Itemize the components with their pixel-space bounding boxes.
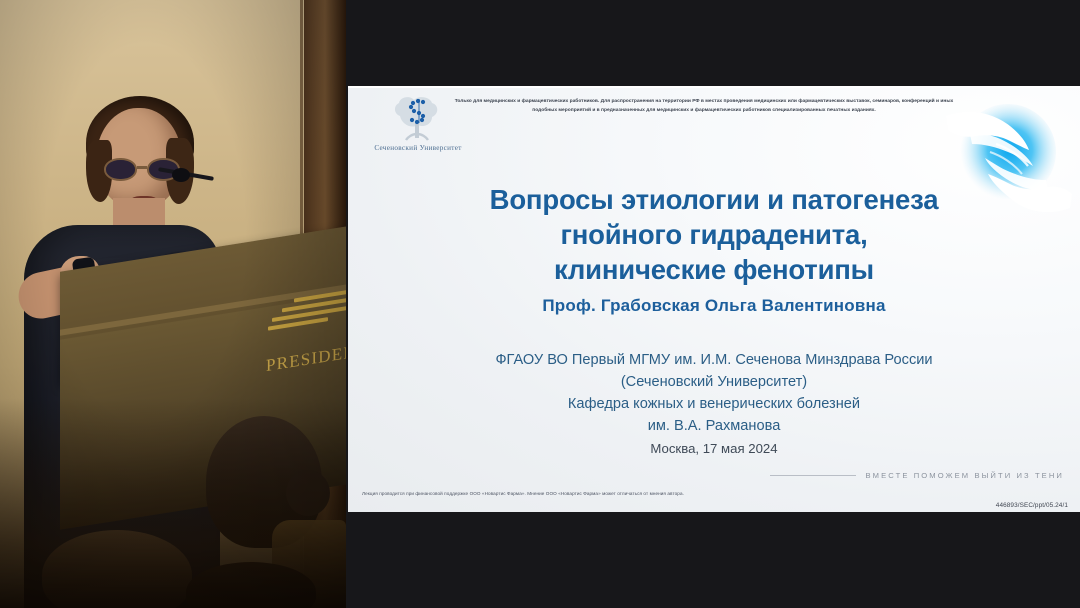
- slide-affiliation: ФГАОУ ВО Первый МГМУ им. И.М. Сеченова М…: [348, 350, 1080, 438]
- sechenov-logo-mark-icon: [388, 94, 448, 144]
- slide-title-line-2: гнойного гидраденита,: [348, 217, 1080, 252]
- campaign-tagline: ВМЕСТЕ ПОМОЖЕМ ВЫЙТИ ИЗ ТЕНИ: [770, 471, 1065, 480]
- regulatory-disclaimer: Только для медицинских и фармацевтически…: [444, 98, 964, 115]
- glasses-lens-left: [104, 158, 137, 181]
- affiliation-line-3: Кафедра кожных и венерических болезней: [348, 394, 1080, 416]
- tagline-rule: [770, 475, 856, 476]
- scene-bottom-shadow: [0, 398, 346, 608]
- slide-title: Вопросы этиологии и патогенеза гнойного …: [348, 182, 1080, 288]
- slide-title-line-1: Вопросы этиологии и патогенеза: [348, 182, 1080, 217]
- presentation-slide: Сеченовский Университет Только для медиц…: [348, 86, 1080, 512]
- sponsor-footnote: Лекция проводится при финансовой поддерж…: [362, 491, 684, 496]
- slide-title-line-3: клинические фенотипы: [348, 252, 1080, 287]
- affiliation-line-2: (Сеченовский Университет): [348, 372, 1080, 394]
- logo-caption: Сеченовский Университет: [364, 144, 472, 152]
- affiliation-line-1: ФГАОУ ВО Первый МГМУ им. И.М. Сеченова М…: [348, 350, 1080, 372]
- slide-letterbox-pane: Сеченовский Университет Только для медиц…: [346, 0, 1080, 608]
- material-code: 446893/SEC/ppt/05.24/1: [996, 502, 1068, 509]
- slide-place-date: Москва, 17 мая 2024: [348, 441, 1080, 456]
- slide-author: Проф. Грабовская Ольга Валентиновна: [348, 296, 1080, 316]
- glasses-bridge: [137, 166, 147, 169]
- speaker-video-pane: PRESIDENT: [0, 0, 346, 608]
- screen-root: PRESIDENT: [0, 0, 1080, 608]
- microphone-capsule: [172, 168, 190, 182]
- tagline-text: ВМЕСТЕ ПОМОЖЕМ ВЫЙТИ ИЗ ТЕНИ: [866, 471, 1065, 480]
- affiliation-line-4: им. В.А. Рахманова: [348, 416, 1080, 438]
